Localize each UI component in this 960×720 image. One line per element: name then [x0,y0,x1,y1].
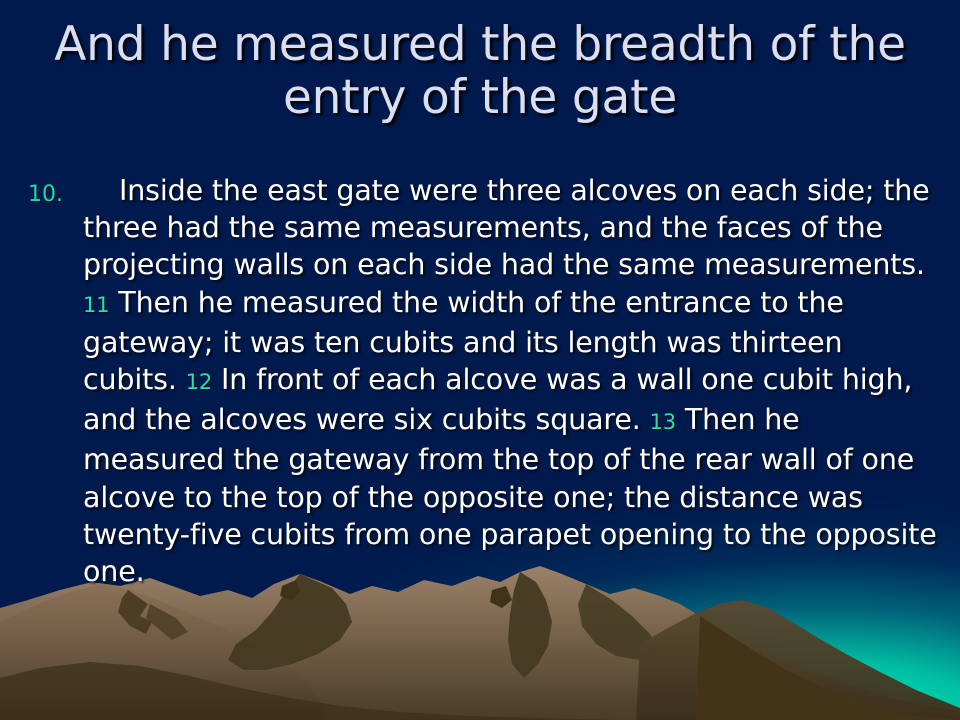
presentation-slide: And he measured the breadth of the entry… [0,0,960,720]
verse-number: 11 [83,293,109,317]
scripture-passage: Inside the east gate were three alcoves … [83,172,940,590]
passage-text-run: Inside the east gate were three alcoves … [83,174,930,281]
verse-number: 12 [186,370,212,394]
slide-title: And he measured the breadth of the entry… [30,18,930,124]
passage-runs: Inside the east gate were three alcoves … [83,174,937,588]
slide-body-block: 10. Inside the east gate were three alco… [28,172,940,590]
verse-number: 13 [650,410,676,434]
list-marker: 10. [28,172,83,206]
